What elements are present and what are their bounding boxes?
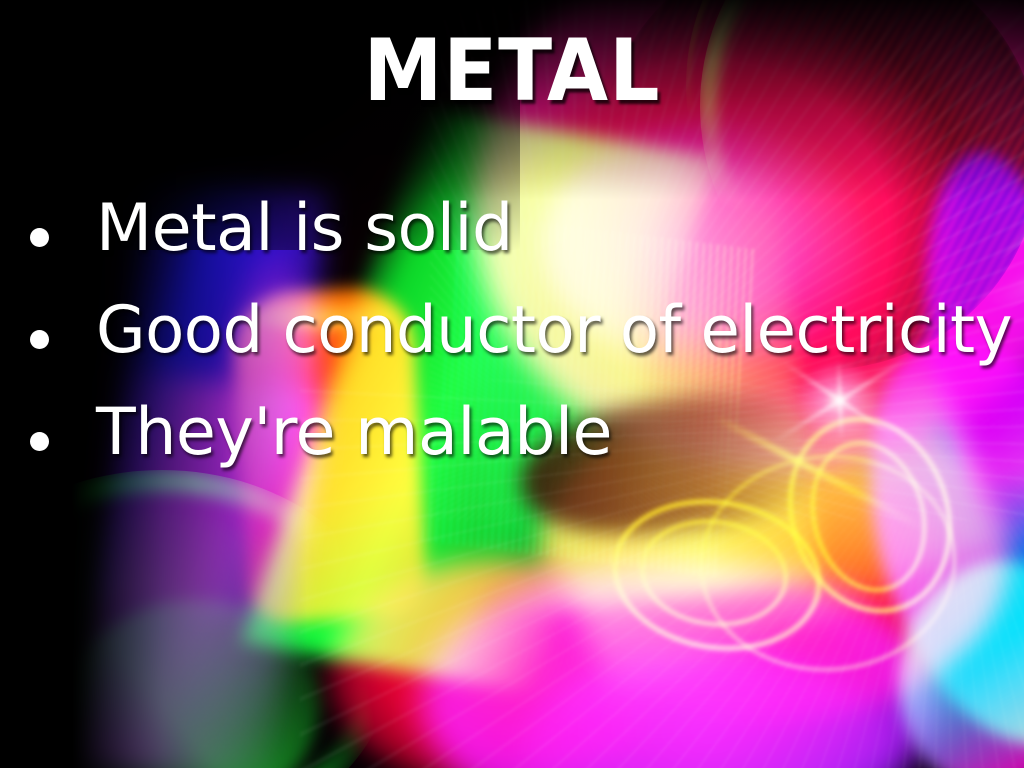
list-item: Metal is solid <box>30 196 1010 298</box>
presentation-slide: METAL Metal is solid Good conductor of e… <box>0 0 1024 768</box>
bullet-text: Metal is solid <box>96 196 513 261</box>
bullet-dot-icon <box>30 330 49 349</box>
bullet-dot-icon <box>30 228 49 247</box>
list-item: They're malable <box>30 400 1010 502</box>
bullet-text: Good conductor of electricity <box>96 298 1012 363</box>
bullet-list: Metal is solid Good conductor of electri… <box>30 196 1010 502</box>
list-item: Good conductor of electricity <box>30 298 1010 400</box>
bullet-text: They're malable <box>96 400 612 465</box>
bullet-dot-icon <box>30 432 49 451</box>
slide-content: METAL Metal is solid Good conductor of e… <box>0 0 1024 768</box>
slide-title: METAL <box>41 28 983 114</box>
